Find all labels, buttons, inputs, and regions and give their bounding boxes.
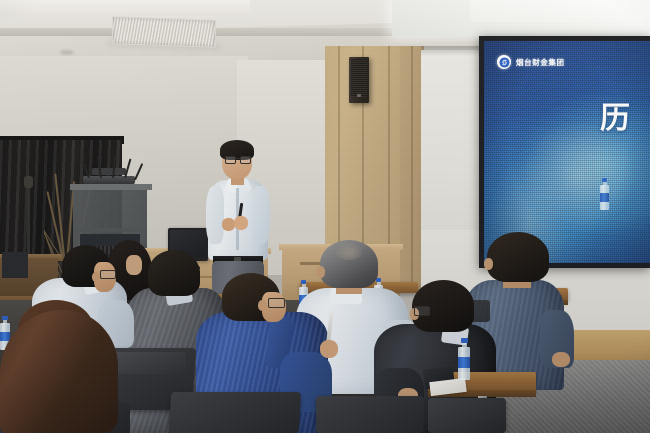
attendee-6-scalp [334, 242, 364, 260]
led-screen [484, 41, 650, 263]
presenter-arm-left [206, 186, 224, 244]
attendee-1-head [0, 310, 118, 433]
company-logo-text: 烟台财金集团 [516, 57, 565, 68]
wireless-router-secondary [92, 168, 126, 175]
wood-panel-seam [411, 46, 413, 291]
conference-room-photo: 烟台财金集团 历 [0, 0, 650, 433]
screen-logo: 烟台财金集团 [497, 54, 593, 70]
attendee-8-ear [484, 258, 493, 270]
attendee-2-ear [92, 272, 100, 282]
attendee-5-eyeglasses [268, 298, 285, 308]
attendee-8-head [487, 232, 549, 282]
ceiling-speck [60, 50, 74, 55]
attendee-2-eyeglasses [100, 270, 116, 279]
chair-right-front[interactable] [428, 398, 506, 433]
presenter-eyeglasses-bridge [234, 158, 240, 159]
microphone-head [24, 176, 33, 188]
water-bottle [458, 338, 470, 380]
screen-headline-character: 历 [600, 104, 630, 134]
chair-center-front[interactable] [316, 396, 424, 433]
wireless-router [83, 176, 135, 184]
presenter-hand-right [234, 216, 248, 230]
presenter-hand-left [222, 218, 235, 231]
monitor-left-edge [2, 252, 28, 278]
screen-vignette [484, 41, 650, 263]
attendee-5-hand [320, 340, 338, 358]
attendee-7-eyeglasses [414, 306, 430, 316]
equipment-rack-shelf [73, 228, 147, 232]
company-logo-icon [497, 55, 511, 69]
ceiling-light-panel-inner [470, 0, 650, 22]
speaker-grille [351, 59, 367, 97]
presenter-eyeglasses-lens-right [240, 156, 251, 164]
attendee-4-head [148, 250, 200, 296]
air-vent-grille [112, 16, 216, 48]
chair-left-front[interactable] [169, 392, 301, 433]
attendee-3-face [126, 255, 142, 275]
water-bottle [600, 178, 609, 210]
attendee-5-ear [258, 300, 267, 311]
attendee-8-hand [552, 352, 570, 367]
ceiling-light-strip-left [0, 0, 250, 14]
equipment-rack-top [70, 184, 152, 190]
attendee-6-ear [316, 266, 325, 278]
presenter-arm-right [252, 186, 270, 244]
speaker-badge [357, 94, 361, 97]
